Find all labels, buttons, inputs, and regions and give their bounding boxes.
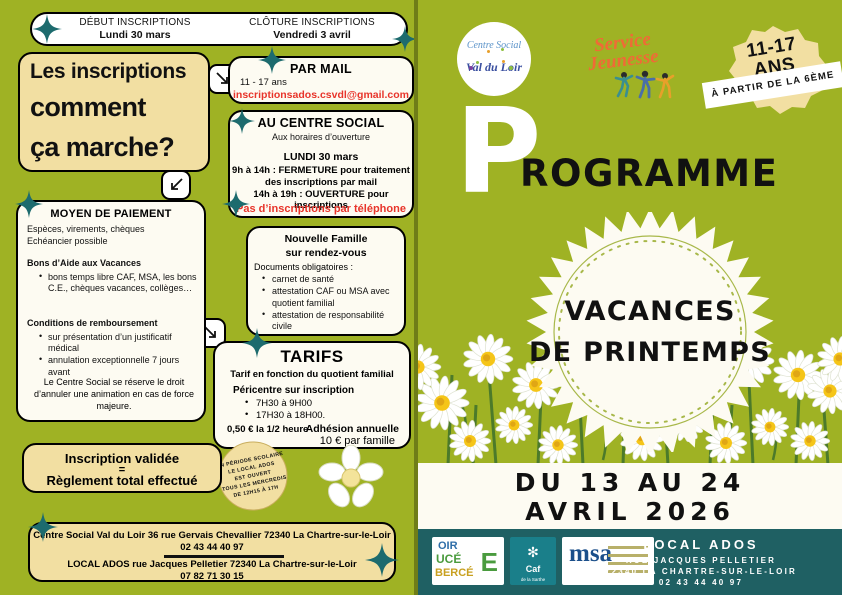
centre-social-heading: AU CENTRE SOCIAL	[230, 116, 412, 130]
bons-list: bons temps libre CAF, MSA, les bons C.E.…	[27, 272, 201, 295]
nouvelle-famille-heading: Nouvelle Famille	[248, 233, 404, 245]
contact-phone-1: 02 43 44 40 97	[30, 542, 394, 553]
llb-line-1: OIR	[438, 540, 458, 552]
llb-letter-e: E	[481, 547, 498, 578]
list-item: bons temps libre CAF, MSA, les bons C.E.…	[39, 272, 201, 295]
left-panel: DÉBUT INSCRIPTIONS Lundi 30 mars CLÔTURE…	[0, 0, 418, 595]
programme-word: ROGRAMME	[520, 152, 778, 195]
caf-logo: ✻ Caf de la Sarthe	[510, 537, 556, 585]
paiement-footnote: Le Centre Social se réserve le droit d’a…	[27, 376, 201, 412]
address-phone: 02 43 44 40 97	[576, 578, 826, 587]
daisy-flower-icon	[318, 445, 384, 511]
validation-line-2: Règlement total effectué	[24, 473, 220, 488]
list-item: 7H30 à 9H00	[245, 398, 325, 410]
documents-list: carnet de santé attestation CAF ou MSA a…	[262, 274, 404, 333]
dancing-people-icon	[612, 70, 682, 100]
debut-inscriptions-value: Lundi 30 mars	[50, 29, 220, 41]
contact-line-1: Centre Social Val du Loir 36 rue Gervais…	[30, 530, 394, 541]
centre-social-hours-2: des inscriptions par mail	[230, 177, 412, 188]
centre-social-hours-1: 9h à 14h : FERMETURE pour traitement	[230, 165, 412, 176]
address-street: RUE JACQUES PELLETIER	[576, 556, 826, 565]
seal-line-2: DE PRINTEMPS	[529, 337, 771, 368]
star-icon	[242, 328, 272, 358]
title-line-1: Les inscriptions	[30, 60, 186, 84]
contact-line-3: LOCAL ADOS rue Jacques Pelletier 72340 L…	[30, 559, 394, 570]
title-line-2: comment	[30, 92, 146, 123]
local-ados-seal: EN PÉRIODE SCOLAIRE LE LOCAL ADOS EST OU…	[216, 439, 290, 513]
validation-card: Inscription validée = Règlement total ef…	[22, 443, 222, 493]
paiement-line-2: Echéancier possible	[27, 236, 201, 248]
address-city: 72340 LA CHARTRE-SUR-LE-LOIR	[576, 567, 826, 576]
poster-page: DÉBUT INSCRIPTIONS Lundi 30 mars CLÔTURE…	[0, 0, 842, 595]
main-title-card: Les inscriptions comment ça marche?	[18, 52, 210, 172]
list-item: 17H30 à 18H00.	[245, 410, 325, 422]
loir-luce-berce-logo: OIR UCÉ BERCÉ E	[432, 537, 504, 585]
llb-line-2: UCÉ	[436, 552, 461, 566]
title-line-3: ça marche?	[30, 132, 174, 163]
adhesion-label: Adhésion annuelle	[306, 423, 399, 435]
date-line-1: DU 13 AU 24	[418, 468, 842, 497]
caf-name: Caf	[510, 564, 556, 574]
pericentre-list: 7H30 à 9H00 17H30 à 18H00.	[245, 398, 325, 423]
star-icon	[229, 108, 255, 134]
paiement-line-1: Espèces, virements, chèques	[27, 224, 201, 236]
nouvelle-famille-card: Nouvelle Famille sur rendez-vous Documen…	[246, 226, 406, 336]
vacances-seal-badge: VACANCES DE PRINTEMPS	[519, 212, 781, 452]
pericentre-label: Péricentre sur inscription	[233, 385, 354, 396]
documents-label: Documents obligatoires :	[254, 262, 353, 272]
logo-line-1: Centre Social	[457, 40, 531, 51]
caf-subtitle: de la Sarthe	[510, 577, 556, 582]
au-centre-social-card: AU CENTRE SOCIAL Aux horaires d’ouvertur…	[228, 110, 414, 218]
llb-line-3: BERCÉ	[435, 567, 474, 579]
seal-text: VACANCES DE PRINTEMPS	[519, 212, 781, 452]
star-icon	[222, 190, 250, 218]
cloture-inscriptions-value: Vendredi 3 avril	[226, 29, 398, 41]
nouvelle-famille-subheading: sur rendez-vous	[248, 247, 404, 259]
registration-email[interactable]: inscriptionsados.csvdl@gmail.com	[230, 89, 412, 101]
bottom-bar: OIR UCÉ BERCÉ E ✻ Caf de la Sarthe msa L…	[418, 529, 842, 595]
conditions-heading: Conditions de remboursement	[27, 318, 201, 330]
star-icon	[258, 46, 286, 74]
date-band: DU 13 AU 24 AVRIL 2026	[418, 463, 842, 529]
caf-emblem-icon: ✻	[527, 544, 539, 561]
par-mail-card: PAR MAIL 11 - 17 ans inscriptionsados.cs…	[228, 56, 414, 104]
par-mail-age: 11 - 17 ans	[240, 77, 287, 88]
list-item: carnet de santé	[262, 274, 404, 285]
list-item: attestation CAF ou MSA avec quotient fam…	[262, 286, 404, 309]
debut-inscriptions-label: DÉBUT INSCRIPTIONS	[50, 17, 220, 29]
arrow-down-left-icon	[161, 170, 191, 200]
moyen-de-paiement-card: MOYEN DE PAIEMENT Espèces, virements, ch…	[16, 200, 206, 422]
service-jeunesse-logo: Service Jeunesse	[588, 28, 718, 98]
tarifs-subtitle: Tarif en fonction du quotient familial	[215, 369, 409, 380]
star-icon	[365, 543, 399, 577]
seal-text: EN PÉRIODE SCOLAIRE LE LOCAL ADOS EST OU…	[210, 433, 297, 520]
paiement-heading: MOYEN DE PAIEMENT	[18, 208, 204, 220]
list-item: attestation de responsabilité civile	[262, 310, 404, 333]
bons-heading: Bons d’Aide aux Vacances	[27, 258, 201, 270]
star-icon	[15, 190, 43, 218]
cloture-inscriptions-label: CLÔTURE INSCRIPTIONS	[226, 17, 398, 29]
conditions-list: sur présentation d’un justificatif médic…	[27, 332, 201, 379]
date-line-2: AVRIL 2026	[418, 497, 842, 526]
star-icon	[32, 14, 62, 44]
contact-footer-card: Centre Social Val du Loir 36 rue Gervais…	[28, 522, 396, 582]
seal-line-1: VACANCES	[564, 296, 735, 327]
registration-dates-banner: DÉBUT INSCRIPTIONS Lundi 30 mars CLÔTURE…	[30, 12, 408, 46]
address-title: LOCAL ADOS	[576, 537, 826, 552]
contact-phone-2: 07 82 71 30 15	[30, 571, 394, 582]
no-phone-warning: Pas d’inscriptions par téléphone	[230, 203, 412, 215]
divider	[164, 555, 284, 558]
list-item: sur présentation d’un justificatif médic…	[39, 332, 201, 355]
half-hour-price: 0,50 € la 1/2 heure	[227, 424, 308, 435]
centre-social-subtitle: Aux horaires d’ouverture	[230, 132, 412, 142]
local-ados-address: LOCAL ADOS RUE JACQUES PELLETIER 72340 L…	[576, 537, 826, 587]
star-icon	[28, 512, 58, 542]
centre-social-day: LUNDI 30 mars	[230, 151, 412, 163]
